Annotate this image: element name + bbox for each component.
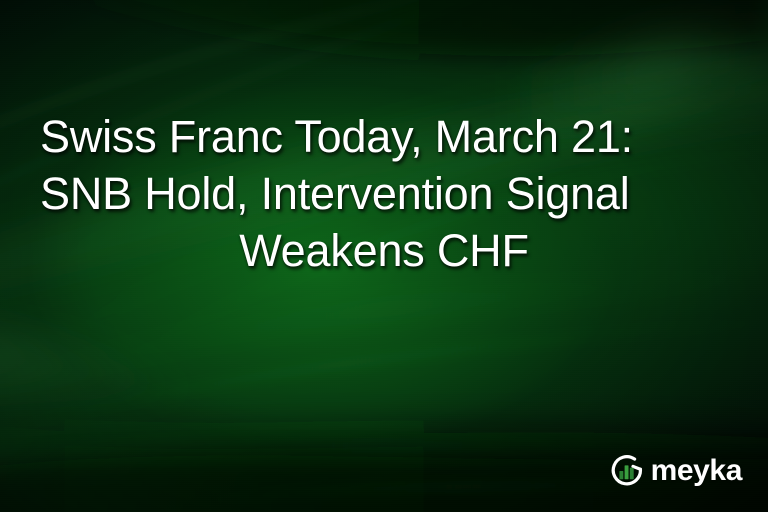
meyka-circle-bars-icon [610, 454, 644, 488]
meyka-logo: meyka [610, 454, 742, 488]
headline-line-3: Weakens CHF [40, 222, 728, 279]
headline-line-2: SNB Hold, Intervention Signal [40, 165, 728, 222]
headline-line-1: Swiss Franc Today, March 21: [40, 108, 728, 165]
banner-image: Swiss Franc Today, March 21: SNB Hold, I… [0, 0, 768, 512]
logo-wordmark: meyka [651, 456, 742, 486]
headline: Swiss Franc Today, March 21: SNB Hold, I… [0, 108, 768, 279]
